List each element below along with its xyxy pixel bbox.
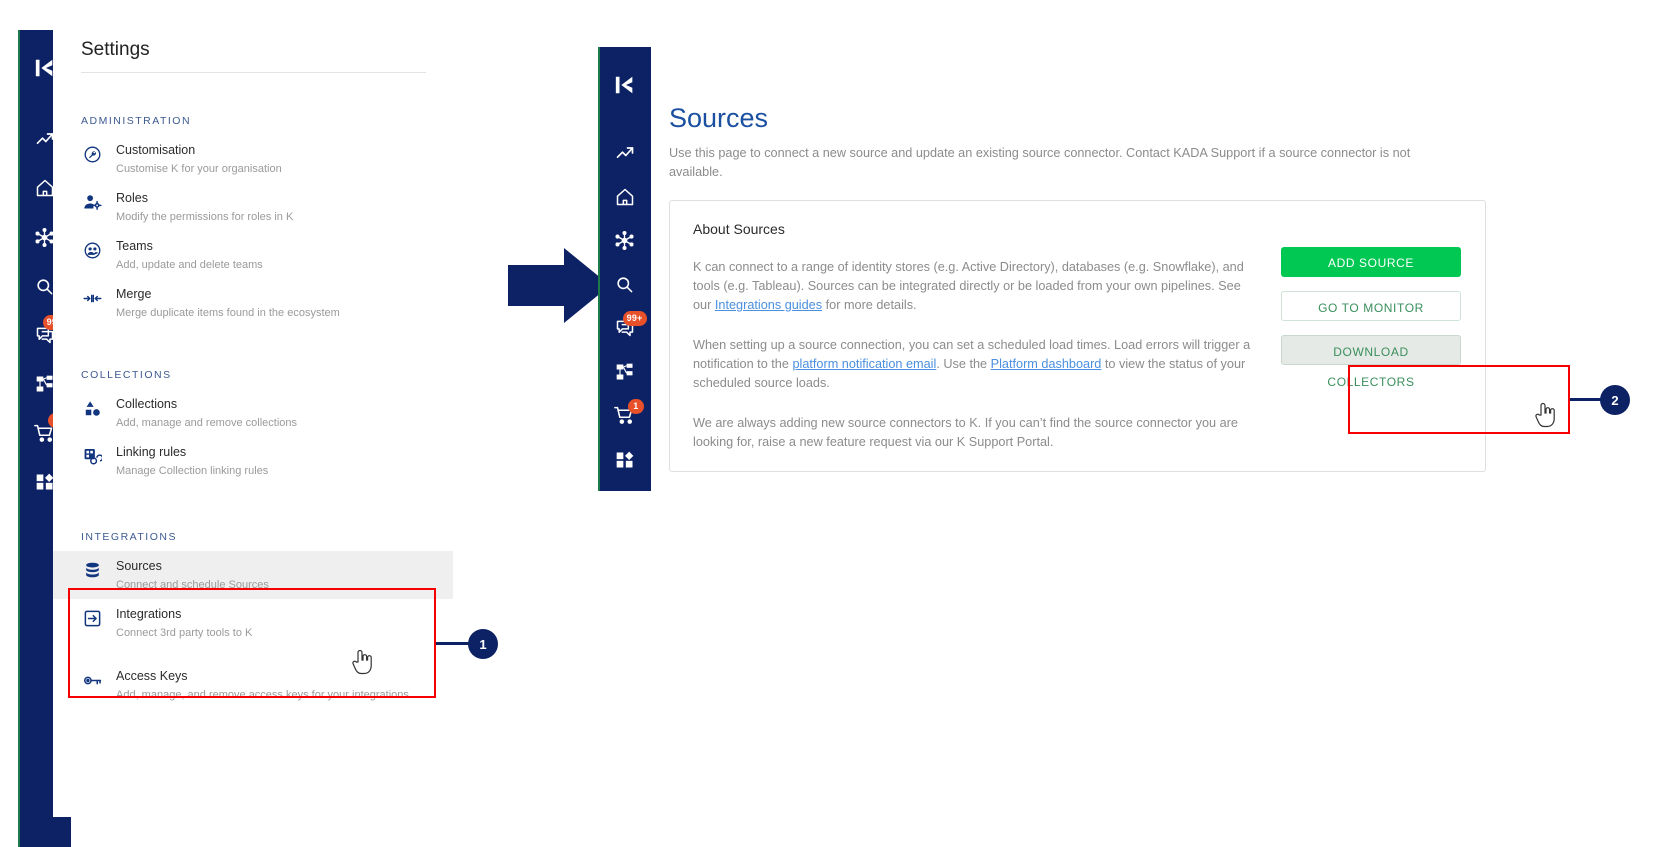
callout-marker-1: 1: [468, 629, 498, 659]
sidebar-item-roles[interactable]: Roles Modify the permissions for roles i…: [53, 183, 453, 231]
shapes-icon: [81, 397, 103, 419]
sidebar-item-teams[interactable]: Teams Add, update and delete teams: [53, 231, 453, 279]
people-circle-icon: [81, 239, 103, 261]
search-icon[interactable]: [610, 272, 640, 297]
home-icon[interactable]: [610, 185, 640, 210]
highlight-box-download-collectors: [1348, 365, 1570, 434]
sidebar-item-title: Sources: [116, 559, 162, 573]
sidebar-item-title: Customisation: [116, 143, 195, 157]
chat-badge-count: 99+: [623, 311, 647, 326]
sidebar-item-title: Linking rules: [116, 445, 186, 459]
sidebar-item-title: Merge: [116, 287, 151, 301]
text-segment: for more details.: [822, 298, 917, 312]
merge-arrows-icon: [81, 287, 103, 309]
go-to-monitor-button[interactable]: GO TO MONITOR: [1281, 291, 1461, 321]
sidebar-item-text: Linking rules Manage Collection linking …: [116, 443, 268, 479]
sidebar-item-subtitle: Add, manage and remove collections: [116, 417, 297, 429]
title-divider: [81, 72, 426, 73]
sidebar-item-subtitle: Manage Collection linking rules: [116, 465, 268, 477]
sidebar-item-text: Teams Add, update and delete teams: [116, 237, 263, 273]
trending-up-icon[interactable]: [610, 141, 640, 166]
database-icon: [81, 559, 103, 581]
callout-line-2: [1570, 398, 1602, 401]
sidebar-item-collections[interactable]: Collections Add, manage and remove colle…: [53, 389, 453, 437]
page-title: Settings: [81, 39, 150, 61]
about-sources-body: K can connect to a range of identity sto…: [693, 258, 1253, 473]
platform-notification-email-link[interactable]: platform notification email: [792, 357, 936, 371]
sidebar-item-text: Roles Modify the permissions for roles i…: [116, 189, 293, 225]
sidebar-item-title: Roles: [116, 191, 148, 205]
callout-marker-2: 2: [1600, 385, 1630, 415]
sitemap-icon[interactable]: [610, 360, 640, 385]
wrench-clock-icon: [81, 143, 103, 165]
sources-action-buttons: ADD SOURCE GO TO MONITOR DOWNLOAD COLLEC…: [1281, 247, 1461, 379]
sidebar-item-text: Merge Merge duplicate items found in the…: [116, 285, 340, 321]
group-label-integrations: INTEGRATIONS: [81, 531, 453, 543]
linking-rules-icon: [81, 445, 103, 467]
callout-line-1: [436, 642, 470, 645]
sidebar-item-subtitle: Modify the permissions for roles in K: [116, 211, 293, 223]
sources-page: Sources Use this page to connect a new s…: [651, 47, 1659, 182]
group-label-administration: ADMINISTRATION: [81, 115, 453, 127]
about-paragraph-1: K can connect to a range of identity sto…: [693, 258, 1253, 315]
sources-heading: Sources: [669, 103, 1659, 134]
text-segment: . Use the: [936, 357, 990, 371]
add-source-button[interactable]: ADD SOURCE: [1281, 247, 1461, 277]
about-sources-heading: About Sources: [693, 221, 1485, 237]
sidebar-item-text: Customisation Customise K for your organ…: [116, 141, 282, 177]
platform-dashboard-link[interactable]: Platform dashboard: [991, 357, 1102, 371]
download-collectors-button[interactable]: DOWNLOAD COLLECTORS: [1281, 335, 1461, 365]
sidebar-item-title: Collections: [116, 397, 177, 411]
about-paragraph-2: When setting up a source connection, you…: [693, 336, 1253, 393]
sidebar-item-subtitle: Customise K for your organisation: [116, 163, 282, 175]
settings-panel: Settings ADMINISTRATION Customisation Cu…: [53, 30, 453, 817]
sidebar-item-title: Teams: [116, 239, 153, 253]
person-gear-icon: [81, 191, 103, 213]
sources-intro-text: Use this page to connect a new source an…: [669, 144, 1459, 182]
sidebar-item-merge[interactable]: Merge Merge duplicate items found in the…: [53, 279, 453, 327]
sidebar-item-subtitle: Merge duplicate items found in the ecosy…: [116, 307, 340, 319]
shopping-cart-icon[interactable]: 1: [610, 404, 640, 429]
apps-grid-icon[interactable]: [610, 447, 640, 472]
sidebar-item-text: Collections Add, manage and remove colle…: [116, 395, 297, 431]
sidebar-item-linking-rules[interactable]: Linking rules Manage Collection linking …: [53, 437, 453, 485]
integrations-guides-link[interactable]: Integrations guides: [715, 298, 822, 312]
sidebar-item-customisation[interactable]: Customisation Customise K for your organ…: [53, 135, 453, 183]
cart-badge-count: 1: [628, 399, 643, 414]
right-vertical-nav-rail[interactable]: 99+ 1: [598, 47, 651, 491]
network-nodes-icon[interactable]: [610, 229, 640, 254]
about-paragraph-3: We are always adding new source connecto…: [693, 414, 1253, 452]
chat-messages-icon[interactable]: 99+: [610, 316, 640, 341]
kada-logo-right[interactable]: [614, 74, 636, 101]
highlight-box-sources-item: [68, 588, 436, 698]
group-label-collections: COLLECTIONS: [81, 369, 453, 381]
sidebar-item-subtitle: Add, update and delete teams: [116, 259, 263, 271]
